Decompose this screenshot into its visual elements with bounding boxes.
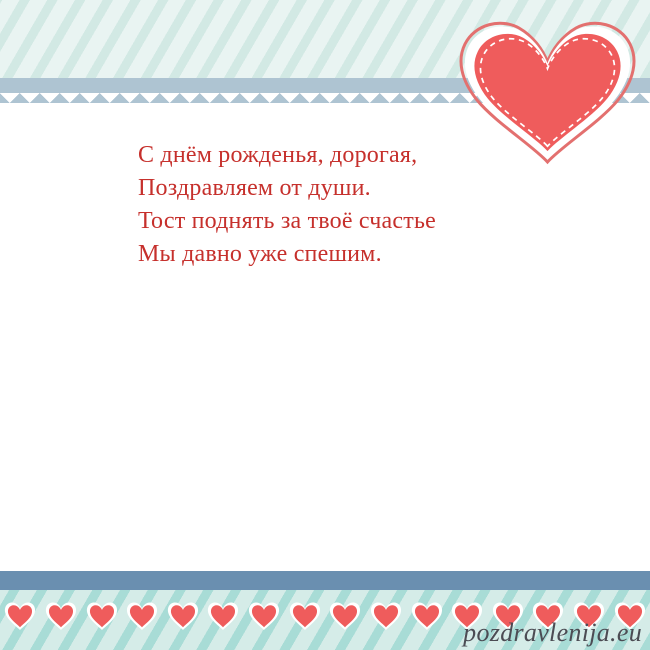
heart-icon: [206, 600, 240, 632]
bottom-blue-band: [0, 581, 650, 590]
bottom-zigzag-edge: [0, 571, 650, 581]
heart-icon: [166, 600, 200, 632]
heart-icon: [369, 600, 403, 632]
heart-icon: [288, 600, 322, 632]
watermark: pozdravlenija.eu: [463, 618, 642, 648]
heart-icon: [410, 600, 444, 632]
message-line-4: Мы давно уже спешим.: [138, 238, 568, 271]
message-line-1: С днём рожденья, дорогая,: [138, 139, 568, 172]
greeting-card: С днём рожденья, дорогая, Поздравляем от…: [0, 0, 650, 650]
heart-icon: [85, 600, 119, 632]
heart-icon: [247, 600, 281, 632]
heart-icon: [125, 600, 159, 632]
message-line-3: Тост поднять за твоё счастье: [138, 205, 568, 238]
message-line-2: Поздравляем от души.: [138, 172, 568, 205]
greeting-message: С днём рожденья, дорогая, Поздравляем от…: [138, 139, 568, 271]
heart-icon: [3, 600, 37, 632]
heart-icon: [328, 600, 362, 632]
heart-icon: [44, 600, 78, 632]
